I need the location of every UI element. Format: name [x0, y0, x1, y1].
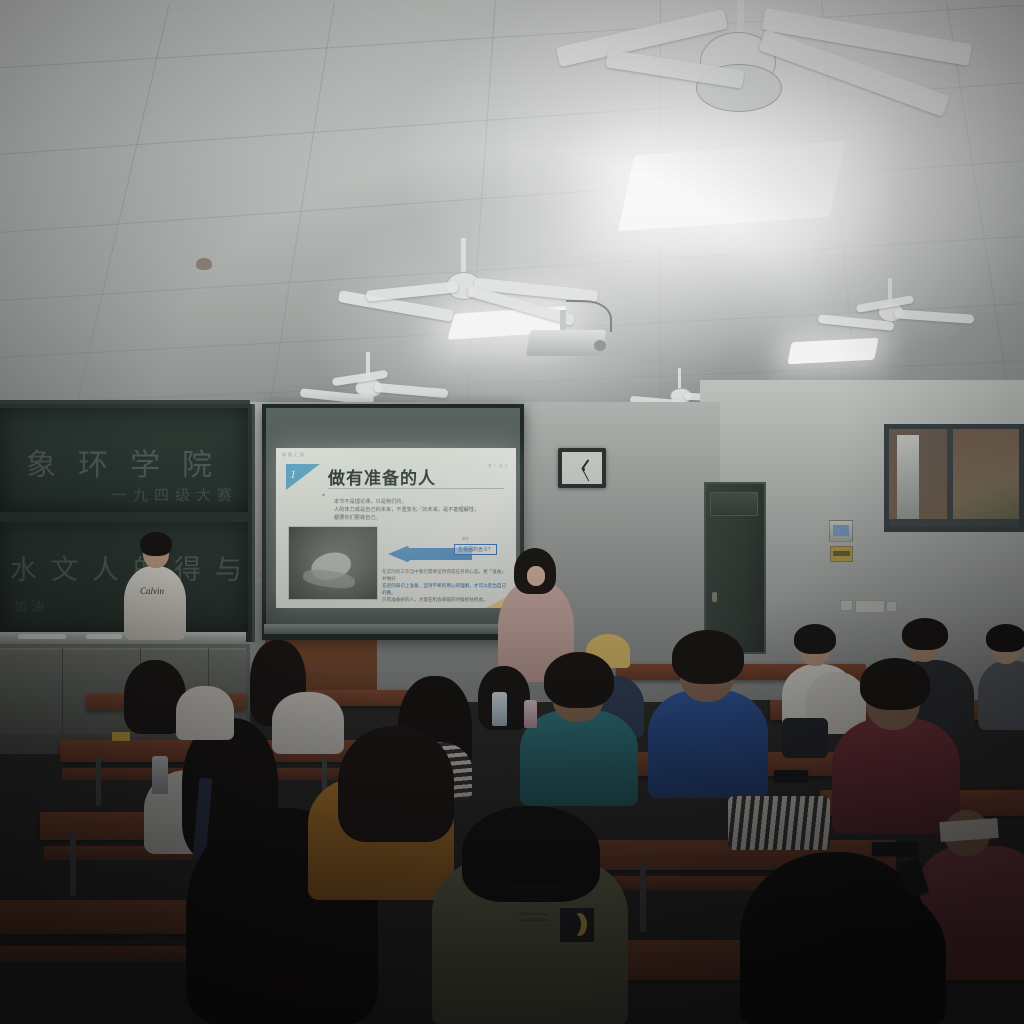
slide-bullet-mark: ◆ — [322, 492, 325, 497]
student-hair — [986, 624, 1024, 652]
door-handle-icon[interactable] — [712, 592, 717, 602]
slide-body-line: 本节不是理论课，只是我们的， — [334, 498, 502, 506]
presentation-slide: 课题汇报 第一部分 1 做有准备的人 ◆ 本节不是理论课，只是我们的， 人的体力… — [276, 448, 516, 608]
student-hair — [740, 876, 946, 1024]
student-body — [520, 710, 638, 806]
chalk-stick[interactable] — [86, 634, 122, 639]
blackboard-text-bottom-sub: 加油 — [14, 596, 48, 615]
power-outlet-strip[interactable] — [855, 600, 885, 613]
classroom-scene: 象环学院 一九四级大赛 水文人的得与失 加油 课题汇报 第一部分 1 做有准备的… — [0, 0, 1024, 1024]
student-body — [978, 660, 1024, 730]
striped-tote-bag[interactable] — [728, 796, 830, 850]
smartphone-on-desk[interactable] — [774, 770, 808, 782]
desk-leg — [640, 862, 646, 932]
projector-lens-icon — [594, 340, 606, 351]
power-outlet-single[interactable] — [886, 601, 897, 612]
student-hair — [672, 630, 744, 684]
slide-callout-label: 思考 — [462, 536, 469, 541]
power-outlet-small[interactable] — [840, 600, 853, 611]
slide-corner-right-label: 第一部分 — [488, 464, 510, 469]
sticky-note[interactable] — [112, 732, 130, 741]
desk-leg — [96, 758, 101, 806]
student-body — [176, 686, 234, 740]
ceiling-light-wash — [0, 0, 1024, 430]
thermos-white[interactable] — [492, 692, 507, 726]
student-body — [648, 690, 768, 798]
student-hair — [794, 624, 836, 654]
water-bottle-silver[interactable] — [152, 756, 168, 794]
blackboard-text-top-sub: 一九四级大赛 — [112, 484, 238, 505]
slide-body-text: 本节不是理论课，只是我们的， 人的体力或是自己的未来，不重复化／的未来，是不能理… — [334, 498, 502, 522]
clock-face — [562, 452, 602, 484]
student-body — [272, 692, 344, 754]
projection-screen-bottom-bar — [264, 624, 522, 634]
door-transom — [710, 492, 758, 516]
slide-body-line: 都要你们要做自己。 — [334, 514, 502, 522]
slide-illustration — [288, 526, 378, 600]
student-body — [832, 718, 960, 834]
wall-notice-plate — [830, 546, 853, 562]
student-hair — [902, 618, 948, 650]
tshirt-line-3: the same to us. — [470, 896, 598, 902]
backpack-on-desk[interactable] — [782, 718, 828, 758]
student-hair — [860, 658, 930, 710]
slide-note-line: 在实际的工作当中我们需要坚持完成任务的心态，更「准备」并做好 — [382, 568, 508, 582]
crescent-moon-icon — [560, 908, 594, 942]
slide-section-number: 1 — [290, 467, 296, 482]
smoke-detector-icon — [196, 258, 212, 270]
assistant-hair — [140, 532, 172, 556]
light-panel-main — [618, 141, 846, 231]
wall-control-panel[interactable] — [829, 520, 853, 542]
slide-callout-box: 生根圈的含义？ — [454, 544, 497, 555]
student-hair — [338, 726, 454, 842]
blackboard-text-top: 象环学院 — [26, 440, 234, 484]
window-to-courtyard — [884, 424, 1024, 532]
presenter-face — [527, 566, 545, 586]
notebook-paper[interactable] — [939, 818, 998, 842]
chalk-stick[interactable] — [18, 634, 66, 639]
slide-body-line: 人的体力或是自己的未来，不重复化／的未来，是不能理解性， — [334, 506, 502, 514]
slide-title: 做有准备的人 — [328, 464, 436, 489]
water-bottle-blue[interactable] — [524, 700, 537, 728]
slide-title-rule — [328, 488, 504, 489]
slide-corner-label: 课题汇报 — [282, 452, 306, 458]
desk-leg — [70, 832, 76, 896]
smartphone-on-desk[interactable] — [872, 842, 918, 856]
assistant-shirt-text: Calvin — [140, 586, 164, 596]
student-hair — [544, 652, 614, 708]
assistant-body — [124, 566, 186, 640]
